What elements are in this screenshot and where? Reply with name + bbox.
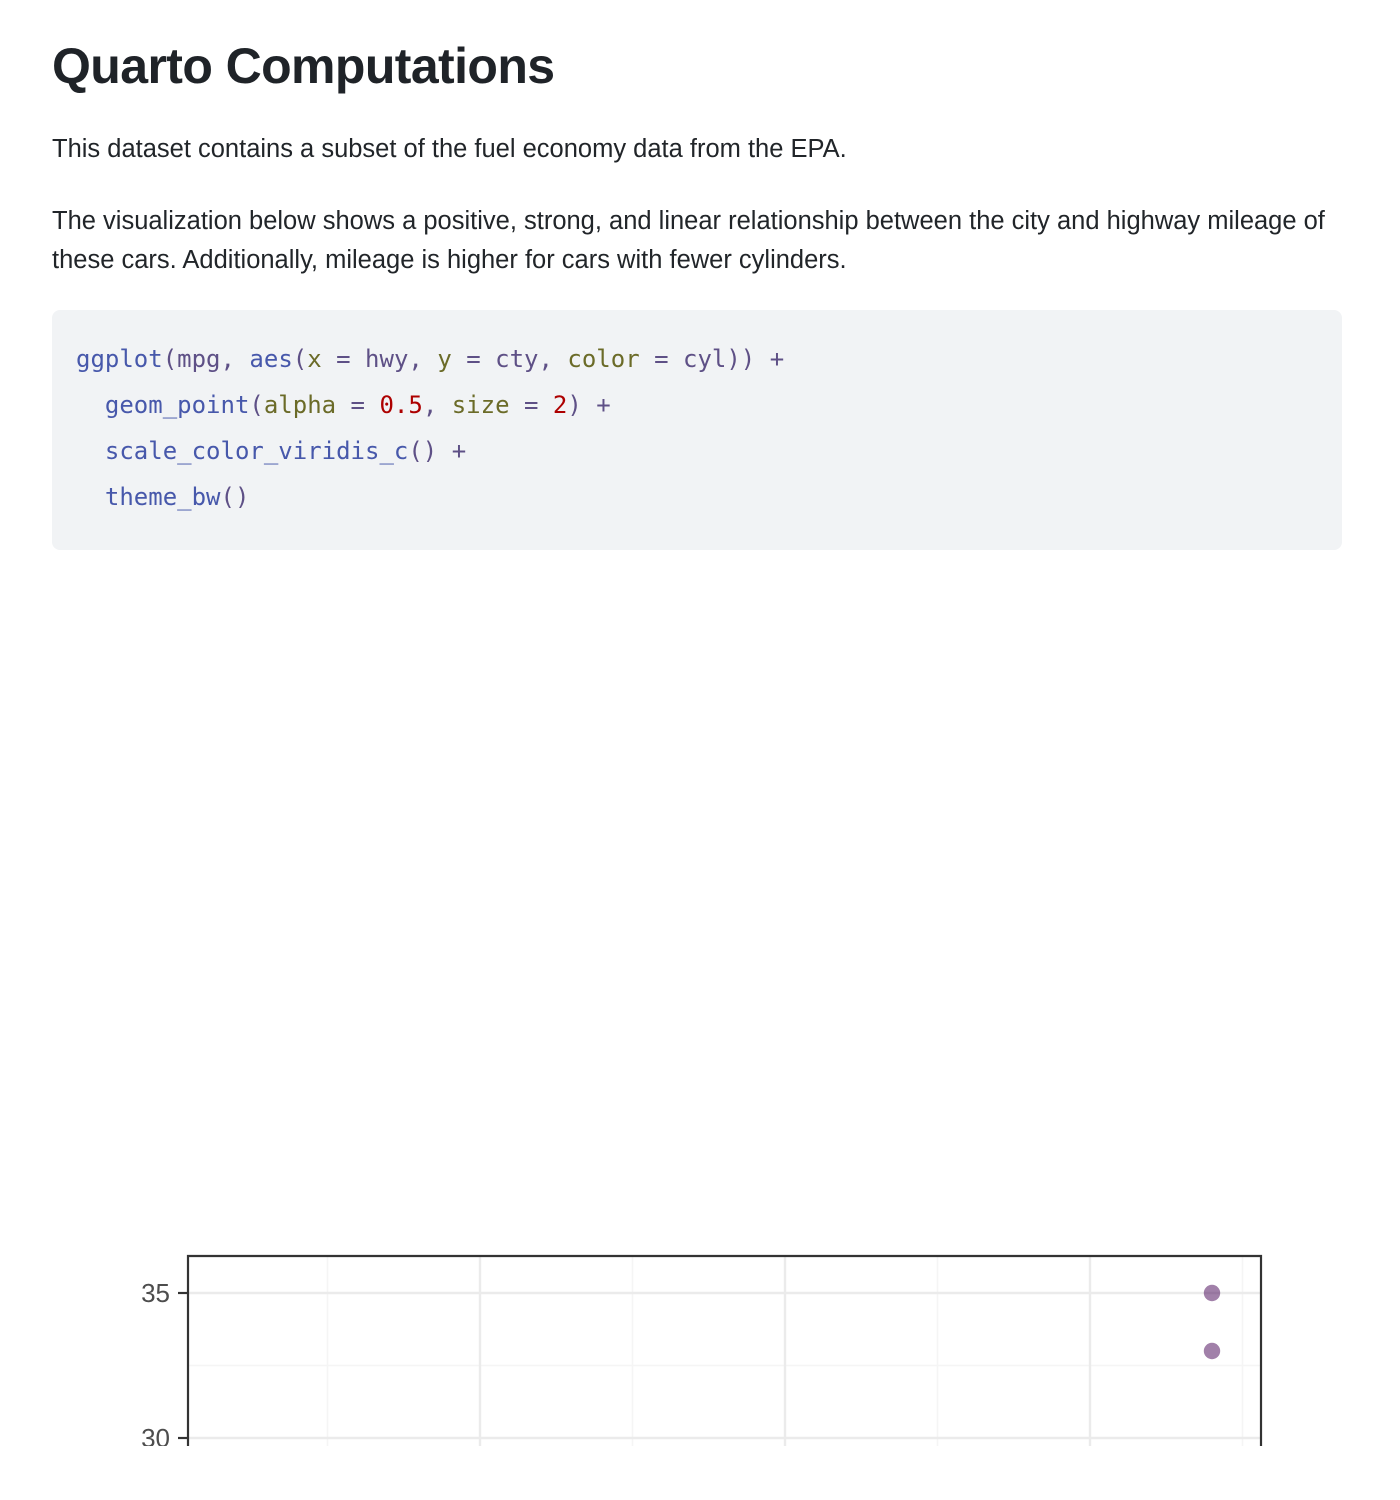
code-token: + bbox=[755, 345, 784, 373]
code-token: ggplot bbox=[76, 345, 163, 373]
r-code-block: ggplot(mpg, aes(x = hwy, y = cty, color … bbox=[52, 310, 1342, 550]
code-token: theme_bw bbox=[105, 483, 221, 511]
code-token: cty bbox=[495, 345, 538, 373]
code-token: 0.5 bbox=[379, 391, 422, 419]
y-axis-tick-label: 35 bbox=[141, 1278, 170, 1308]
code-token: ( bbox=[163, 345, 177, 373]
y-axis-tick-label: 30 bbox=[141, 1423, 170, 1446]
code-token: = bbox=[640, 345, 683, 373]
intro-paragraph: This dataset contains a subset of the fu… bbox=[52, 130, 1342, 169]
code-token: = bbox=[322, 345, 365, 373]
code-token: hwy bbox=[365, 345, 408, 373]
code-token: () bbox=[221, 483, 250, 511]
document-page: Quarto Computations This dataset contain… bbox=[0, 0, 1400, 1446]
code-token: () bbox=[408, 437, 437, 465]
code-token: color bbox=[567, 345, 639, 373]
code-token: ( bbox=[293, 345, 307, 373]
code-token: alpha bbox=[264, 391, 336, 419]
code-token: geom_point bbox=[105, 391, 250, 419]
code-token bbox=[76, 437, 105, 465]
panel-background bbox=[188, 1256, 1261, 1446]
code-token: ( bbox=[249, 391, 263, 419]
description-paragraph: The visualization below shows a positive… bbox=[52, 202, 1342, 280]
ggplot-figure: 3035ctycyl45678 bbox=[52, 586, 1400, 1446]
page-title: Quarto Computations bbox=[52, 38, 1352, 96]
data-point bbox=[1204, 1343, 1220, 1359]
code-token: , bbox=[408, 345, 437, 373]
code-token bbox=[76, 483, 105, 511]
data-point bbox=[1204, 1285, 1220, 1301]
code-token: , bbox=[221, 345, 250, 373]
code-token: scale_color_viridis_c bbox=[105, 437, 408, 465]
code-token: , bbox=[423, 391, 452, 419]
code-token: + bbox=[437, 437, 466, 465]
code-token: cyl bbox=[683, 345, 726, 373]
code-token: )) bbox=[726, 345, 755, 373]
scatter-plot-svg: 3035ctycyl45678 bbox=[52, 586, 1400, 1446]
code-token: aes bbox=[249, 345, 292, 373]
code-token: = bbox=[510, 391, 553, 419]
code-token bbox=[76, 391, 105, 419]
code-token: x bbox=[307, 345, 321, 373]
code-token: 2 bbox=[553, 391, 567, 419]
code-token: , bbox=[538, 345, 567, 373]
code-token: size bbox=[452, 391, 510, 419]
code-token: = bbox=[452, 345, 495, 373]
code-token: = bbox=[336, 391, 379, 419]
y-axis: 3035 bbox=[141, 1278, 188, 1446]
code-token: mpg bbox=[177, 345, 220, 373]
code-token: + bbox=[582, 391, 611, 419]
plot-panel bbox=[188, 1256, 1261, 1446]
code-token: ) bbox=[567, 391, 581, 419]
code-token: y bbox=[437, 345, 451, 373]
